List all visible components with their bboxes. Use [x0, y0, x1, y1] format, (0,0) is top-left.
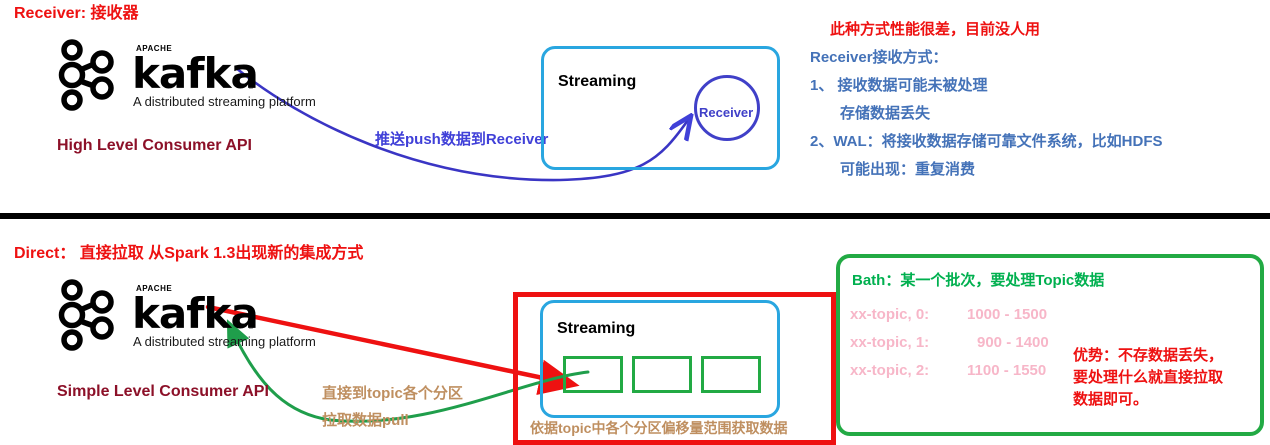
top-section-heading: Receiver: 接收器 — [14, 6, 139, 22]
kafka-logo-top: APACHE kafka ® A distributed streaming p… — [58, 38, 318, 112]
offset-range-2: 1100 - 1550 — [967, 363, 1046, 378]
receiver-note-2b: 可能出现：重复消费 — [840, 162, 975, 177]
offset-topic-0: xx-topic, 0: — [850, 307, 929, 322]
partition-box-1 — [632, 356, 692, 393]
offset-range-caption: 依据topic中各个分区偏移量范围获取数据 — [530, 421, 787, 435]
kafka-wordmark-bottom: kafka — [132, 289, 258, 338]
receiver-note-1b: 存储数据丢失 — [840, 106, 930, 121]
advantage-line-1: 优势：不存数据丢失， — [1073, 345, 1223, 367]
receiver-notes-title: Receiver接收方式： — [810, 50, 948, 65]
streaming-title-bottom: Streaming — [557, 321, 635, 337]
pull-label-line1: 直接到topic各个分区 — [322, 386, 463, 401]
kafka-mark-icon — [58, 38, 128, 112]
streaming-title-top: Streaming — [558, 74, 636, 90]
kafka-logo-bottom: APACHE kafka ® A distributed streaming p… — [58, 278, 318, 352]
offset-range-1: 900 - 1400 — [977, 335, 1049, 350]
batch-title: Bath：某一个批次，要处理Topic数据 — [852, 273, 1104, 288]
push-arrow-label: 推送push数据到Receiver — [375, 132, 548, 147]
kafka-tagline-top: A distributed streaming platform — [133, 94, 316, 109]
offset-topic-2: xx-topic, 2: — [850, 363, 929, 378]
advantage-note: 优势：不存数据丢失， 要处理什么就直接拉取 数据即可。 — [1073, 345, 1233, 410]
kafka-mark-icon-bottom — [58, 278, 128, 352]
pull-label-line2: 拉取数据pull — [322, 413, 409, 428]
kafka-tagline-bottom: A distributed streaming platform — [133, 334, 316, 349]
receiver-label: Receiver — [699, 106, 753, 119]
receiver-note-1: 1、 接收数据可能未被处理 — [810, 78, 988, 93]
kafka-registered-top: ® — [248, 82, 254, 91]
section-divider — [0, 213, 1270, 219]
partition-box-0 — [563, 356, 623, 393]
receiver-warning-note: 此种方式性能很差，目前没人用 — [830, 22, 1040, 37]
offset-topic-1: xx-topic, 1: — [850, 335, 929, 350]
bottom-section-heading: Direct： 直接拉取 从Spark 1.3出现新的集成方式 — [14, 246, 363, 262]
kafka-registered-bottom: ® — [248, 322, 254, 331]
offset-range-0: 1000 - 1500 — [967, 307, 1047, 322]
advantage-line-2: 要处理什么就直接拉取 — [1073, 367, 1223, 389]
high-level-consumer-api-label: High Level Consumer API — [57, 138, 252, 154]
partition-box-2 — [701, 356, 761, 393]
diagram-canvas: Receiver: 接收器 APACHE kafka ® A distribut… — [0, 0, 1270, 445]
advantage-line-3: 数据即可。 — [1073, 389, 1223, 411]
simple-level-consumer-api-label: Simple Level Consumer API — [57, 384, 269, 400]
receiver-note-2: 2、WAL：将接收数据存储可靠文件系统，比如HDFS — [810, 134, 1163, 149]
kafka-wordmark-top: kafka — [132, 49, 258, 98]
